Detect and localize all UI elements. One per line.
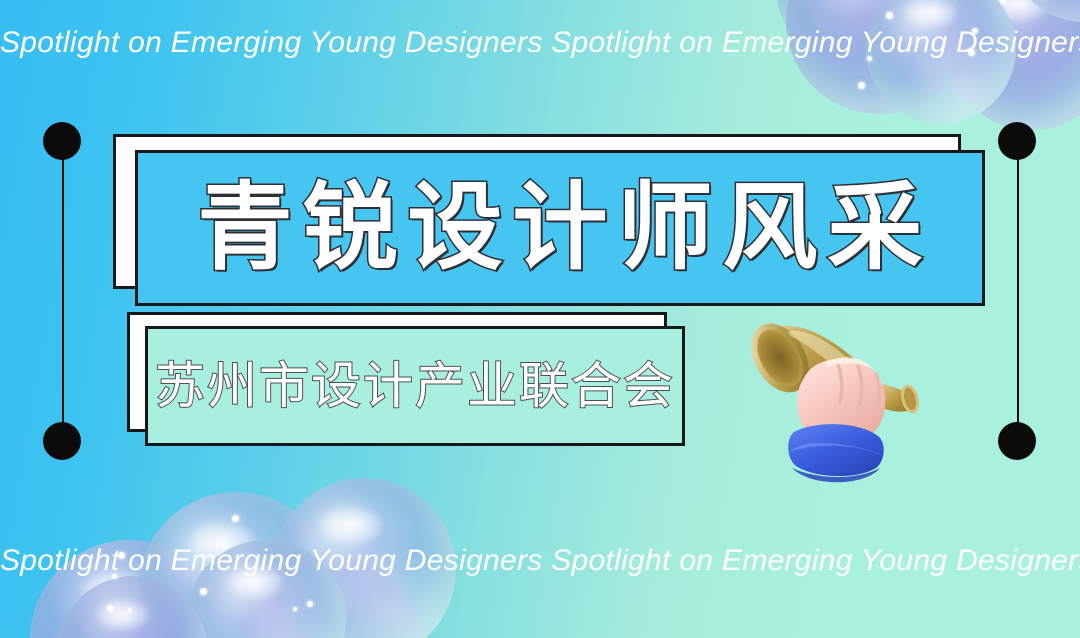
ribbon-bottom-label: Spotlight on Emerging Young Designers Sp…: [0, 544, 1080, 577]
bubble-icon: [866, 0, 1016, 124]
rail-dot-top-icon: [998, 122, 1036, 160]
sparkle-icon: [293, 607, 297, 611]
sparkle-icon: [232, 515, 239, 522]
subtitle-box: 苏州市设计产业联合会: [145, 326, 685, 446]
subtitle-block: 苏州市设计产业联合会: [127, 312, 687, 448]
rail-line: [62, 140, 64, 442]
rail-dot-bottom-icon: [998, 422, 1036, 460]
poster-canvas: Spotlight on Emerging Young Designers Sp…: [0, 0, 1080, 638]
title-banner: 青锐设计师风采: [135, 150, 985, 306]
decor-rail-right: [998, 122, 1038, 460]
sparkle-icon: [858, 82, 865, 89]
page-title: 青锐设计师风采: [187, 181, 932, 276]
ribbon-text-bottom: Spotlight on Emerging Young Designers Sp…: [0, 546, 1080, 576]
sparkle-icon: [107, 605, 113, 611]
bubble-icon: [58, 576, 208, 638]
sparkle-icon: [886, 12, 893, 19]
bubble-icon: [1012, 0, 1080, 22]
decor-rail-left: [43, 122, 83, 460]
sparkle-icon: [200, 588, 207, 595]
rail-line: [1017, 140, 1019, 442]
ribbon-top-label: Spotlight on Emerging Young Designers Sp…: [0, 26, 1080, 59]
sparkle-icon: [307, 601, 313, 607]
rail-dot-bottom-icon: [43, 422, 81, 460]
rail-dot-top-icon: [43, 122, 81, 160]
organization-name: 苏州市设计产业联合会: [155, 361, 675, 411]
title-banner-block: 青锐设计师风采: [113, 134, 985, 306]
ribbon-text-top: Spotlight on Emerging Young Designers Sp…: [0, 28, 1080, 58]
bubble-icon: [946, 0, 1080, 130]
megaphone-illustration: [726, 300, 936, 500]
sparkle-icon: [1000, 0, 1006, 4]
megaphone-icon: [726, 300, 936, 500]
sparkle-icon: [128, 608, 132, 612]
